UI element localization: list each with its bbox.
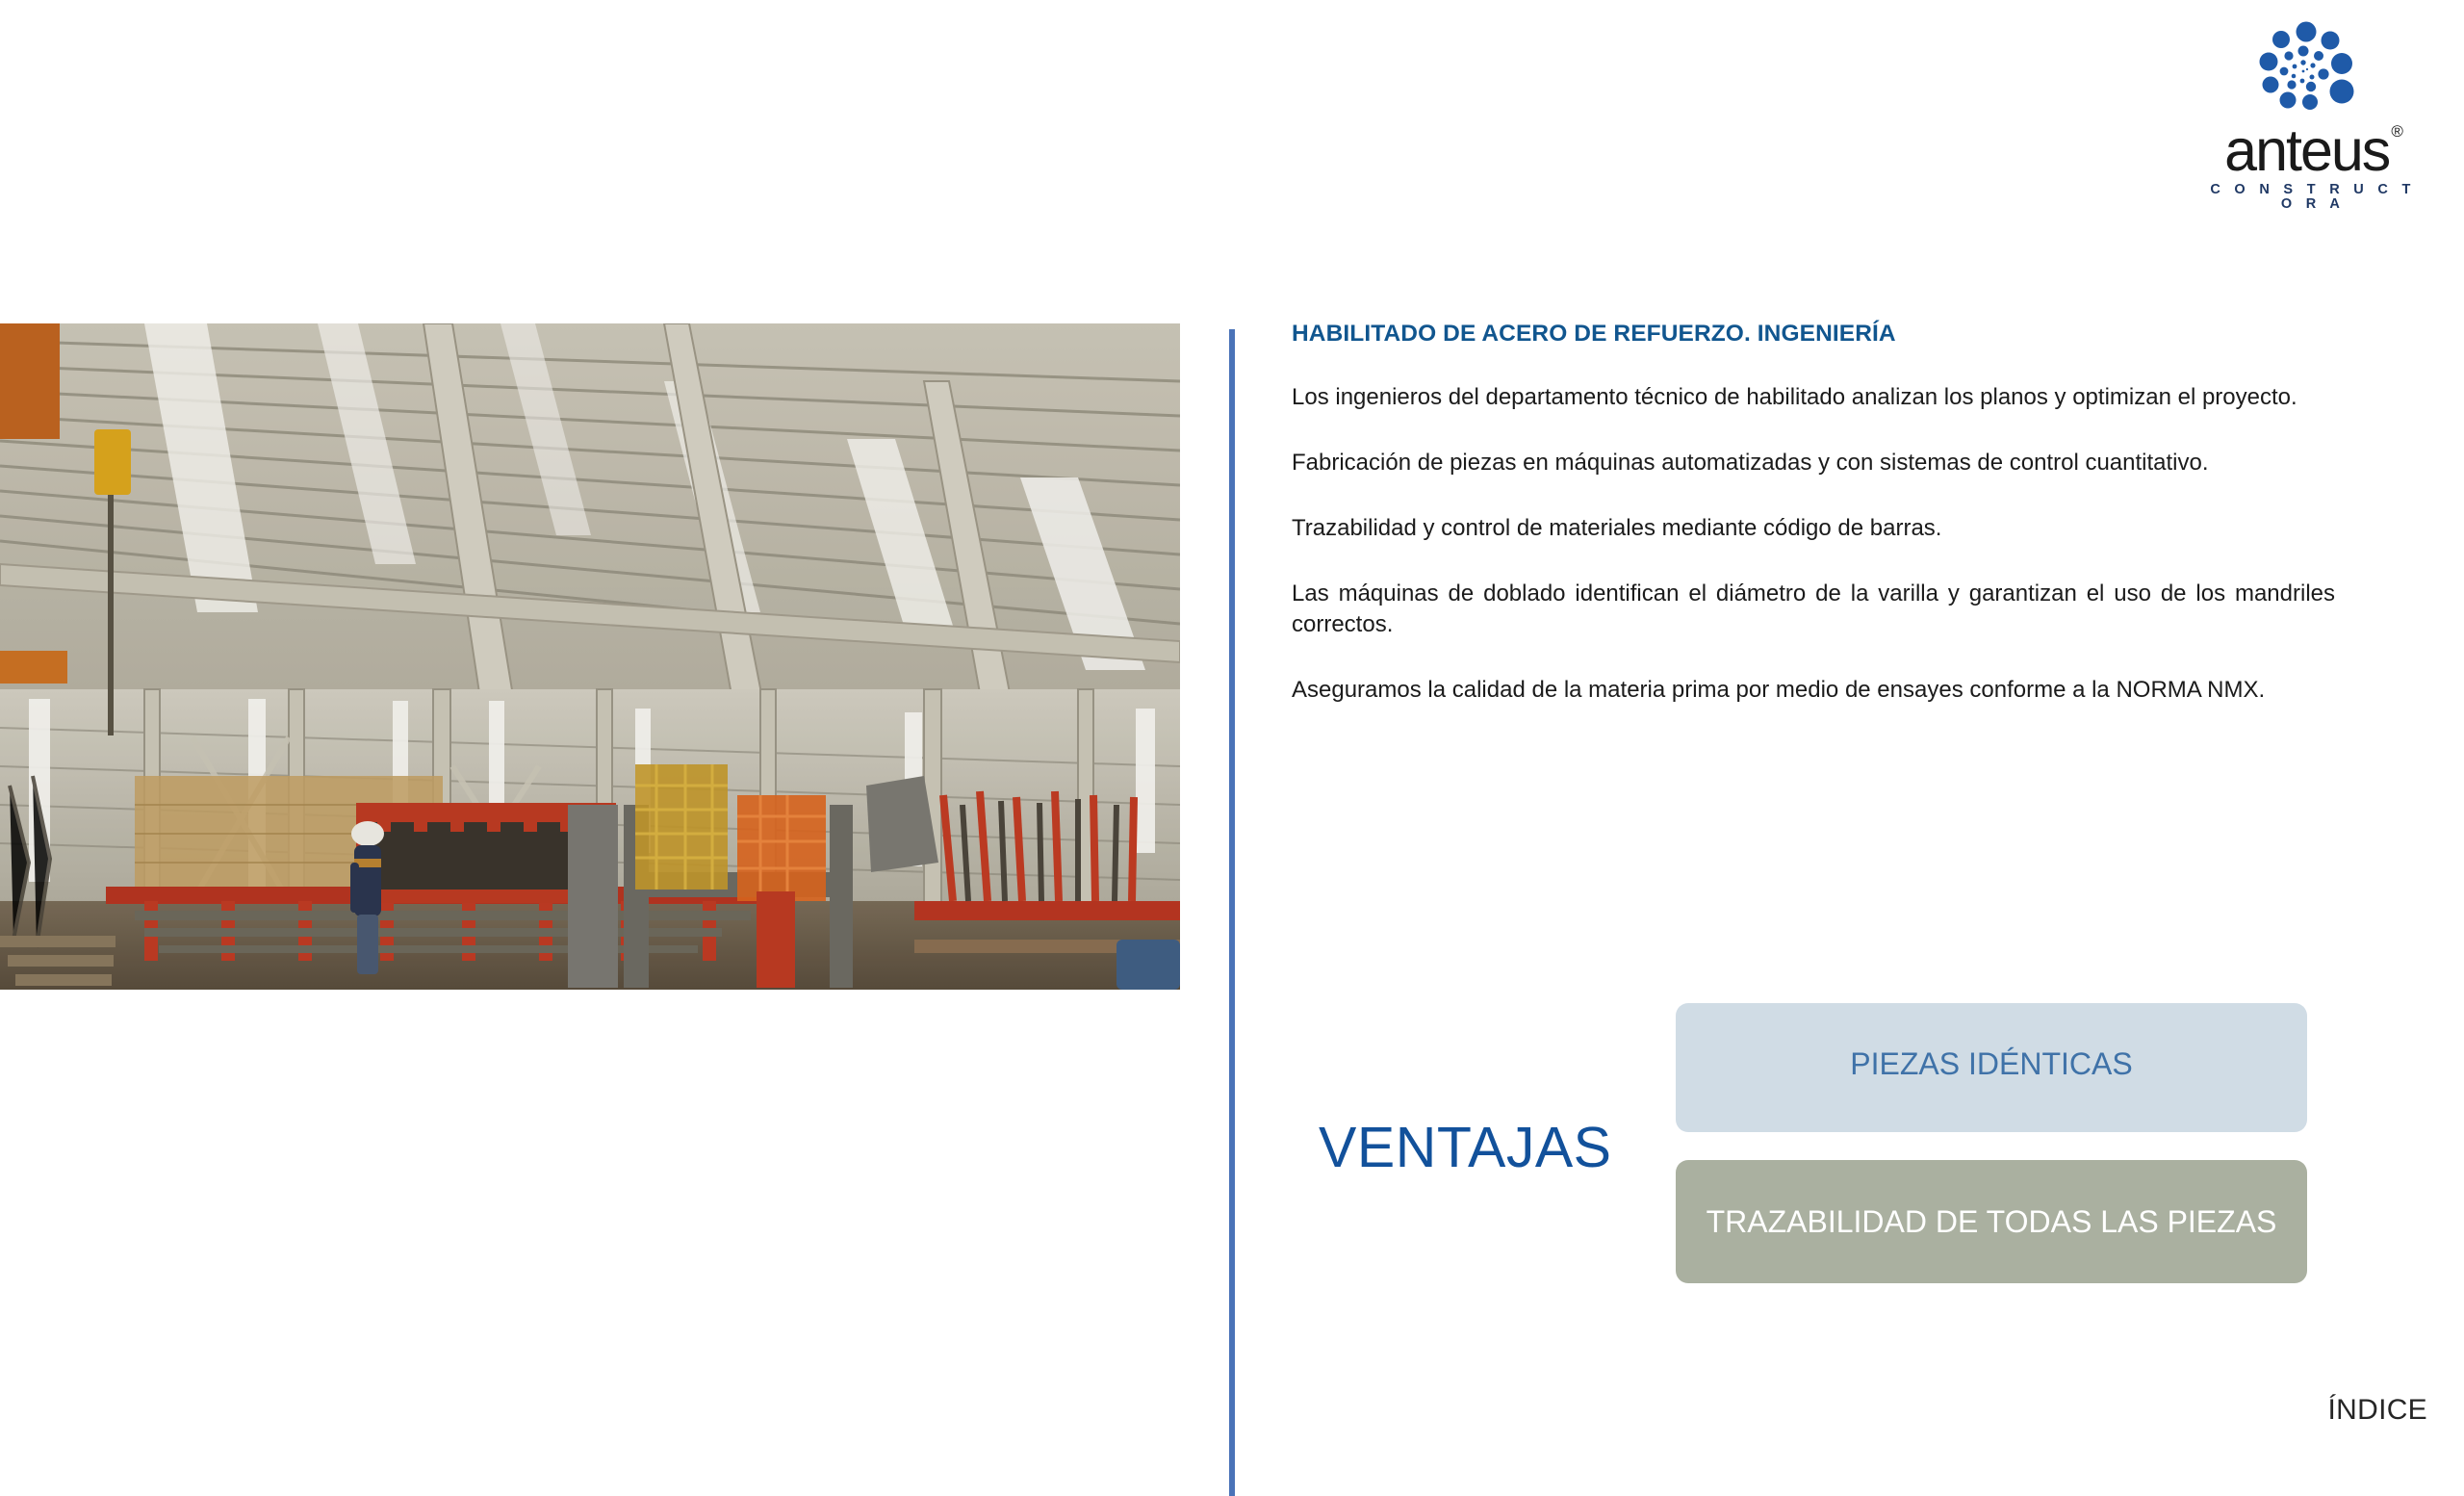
index-link[interactable]: ÍNDICE xyxy=(2328,1394,2427,1427)
brand-wordmark: anteus® xyxy=(2202,121,2424,180)
registered-trademark-icon: ® xyxy=(2391,122,2403,141)
body-paragraph-2: Fabricación de piezas en máquinas automa… xyxy=(1292,448,2335,478)
body-paragraph-3: Trazabilidad y control de materiales med… xyxy=(1292,513,2335,544)
brand-tagline: C O N S T R U C T O R A xyxy=(2202,183,2424,211)
factory-photo xyxy=(0,323,1180,990)
page-title: HABILITADO DE ACERO DE REFUERZO. INGENIE… xyxy=(1292,320,2335,348)
brand-wordmark-text: anteus xyxy=(2224,117,2389,183)
body-paragraph-4: Las máquinas de doblado identifican el d… xyxy=(1292,579,2335,640)
content-column: HABILITADO DE ACERO DE REFUERZO. INGENIE… xyxy=(1292,320,2335,706)
body-paragraph-1: Los ingenieros del departamento técnico … xyxy=(1292,382,2335,413)
brand-logo: anteus® C O N S T R U C T O R A xyxy=(2202,21,2424,204)
body-paragraph-5: Aseguramos la calidad de la materia prim… xyxy=(1292,675,2335,706)
advantage-card-label: PIEZAS IDÉNTICAS xyxy=(1850,1046,2132,1082)
anteus-dot-spiral-mark-icon xyxy=(2249,21,2365,125)
vertical-divider xyxy=(1229,329,1235,1496)
advantage-card-piezas-identicas: PIEZAS IDÉNTICAS xyxy=(1676,1003,2307,1132)
advantages-heading: VENTAJAS xyxy=(1319,1120,1612,1176)
advantage-card-trazabilidad: TRAZABILIDAD DE TODAS LAS PIEZAS xyxy=(1676,1160,2307,1283)
advantage-card-label: TRAZABILIDAD DE TODAS LAS PIEZAS xyxy=(1707,1204,2277,1240)
